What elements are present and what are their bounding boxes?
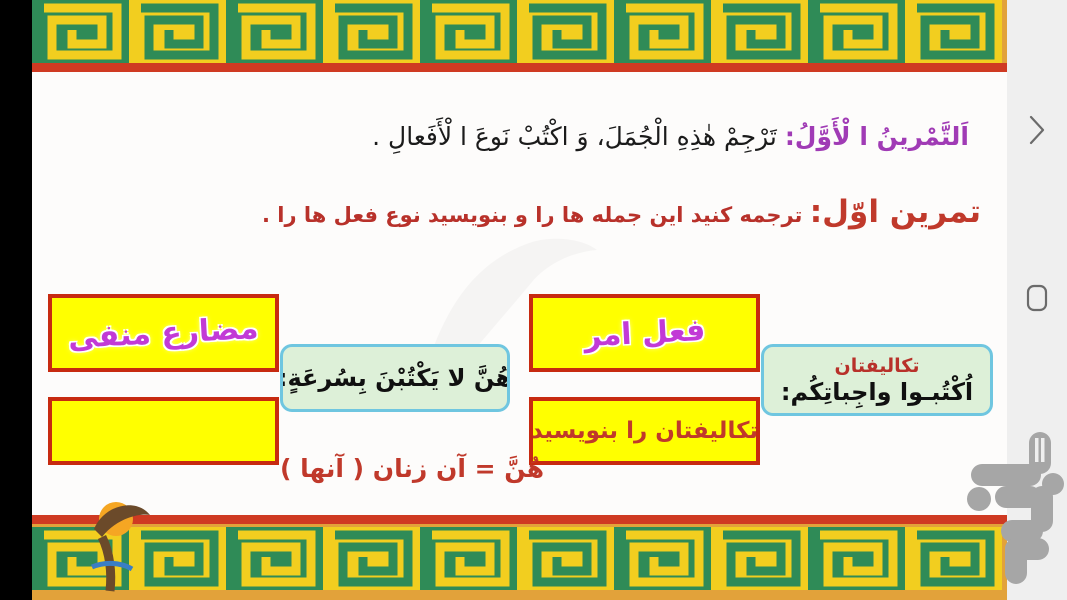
chevron-right-icon[interactable] <box>1020 110 1054 150</box>
sentence-box-2-arabic: اُكْتُبـوا واجِباتِكُم: <box>781 378 973 406</box>
answer-box-imperative-label: تکالیفتان را بنویسید <box>531 418 758 444</box>
border-pattern-bottom-svg <box>32 515 1007 600</box>
vocab-note: هُنَّ = آن زنان ( آنها ) <box>280 454 544 483</box>
sentence-box-1-arabic: هُنَّ لا يَكْتُبْنَ بِسُرعَةٍ: <box>280 364 510 392</box>
book-page[interactable]: اَلتَّمْرينُ ا لْأَوَّلُ: تَرْجِمْ هٰذِه… <box>32 0 1007 600</box>
sentence-box-1[interactable]: هُنَّ لا يَكْتُبْنَ بِسُرعَةٍ: <box>280 344 510 412</box>
type-box-negative-present-label: مضارع منفی <box>68 311 260 356</box>
decorative-border-top <box>32 0 1007 72</box>
answer-box-imperative[interactable]: تکالیفتان را بنویسید <box>529 397 760 465</box>
heading-persian: تمرین اوّل: ترجمه کنید این جمله ها را و … <box>262 194 981 230</box>
heading-persian-label: تمرین اوّل: <box>810 194 981 230</box>
sentence-box-2-persian: تکالیفتان <box>835 355 920 377</box>
heading-arabic-label: اَلتَّمْرينُ ا لْأَوَّلُ: <box>785 122 969 151</box>
reader-screen: اَلتَّمْرينُ ا لْأَوَّلُ: تَرْجِمْ هٰذِه… <box>0 0 1067 600</box>
reader-toolbar <box>1007 0 1067 600</box>
page-content: اَلتَّمْرينُ ا لْأَوَّلُ: تَرْجِمْ هٰذِه… <box>32 72 1007 516</box>
page-rounded-icon[interactable] <box>1020 278 1054 318</box>
type-box-negative-present[interactable]: مضارع منفی <box>48 294 279 372</box>
border-pattern-svg <box>32 0 1007 72</box>
type-box-imperative[interactable]: فعل امر <box>529 294 760 372</box>
sentence-box-2[interactable]: تکالیفتان اُكْتُبـوا واجِباتِكُم: <box>761 344 993 416</box>
answer-box-empty[interactable] <box>48 397 279 465</box>
heading-arabic: اَلتَّمْرينُ ا لْأَوَّلُ: تَرْجِمْ هٰذِه… <box>372 122 969 151</box>
decorative-border-bottom <box>32 515 1007 600</box>
heading-arabic-rest: تَرْجِمْ هٰذِهِ الْجُمَلَ، وَ اكْتُبْ نَ… <box>372 122 785 151</box>
type-box-imperative-label: فعل امر <box>583 312 706 353</box>
heading-persian-rest: ترجمه کنید این جمله ها را و بنویسید نوع … <box>262 203 810 227</box>
